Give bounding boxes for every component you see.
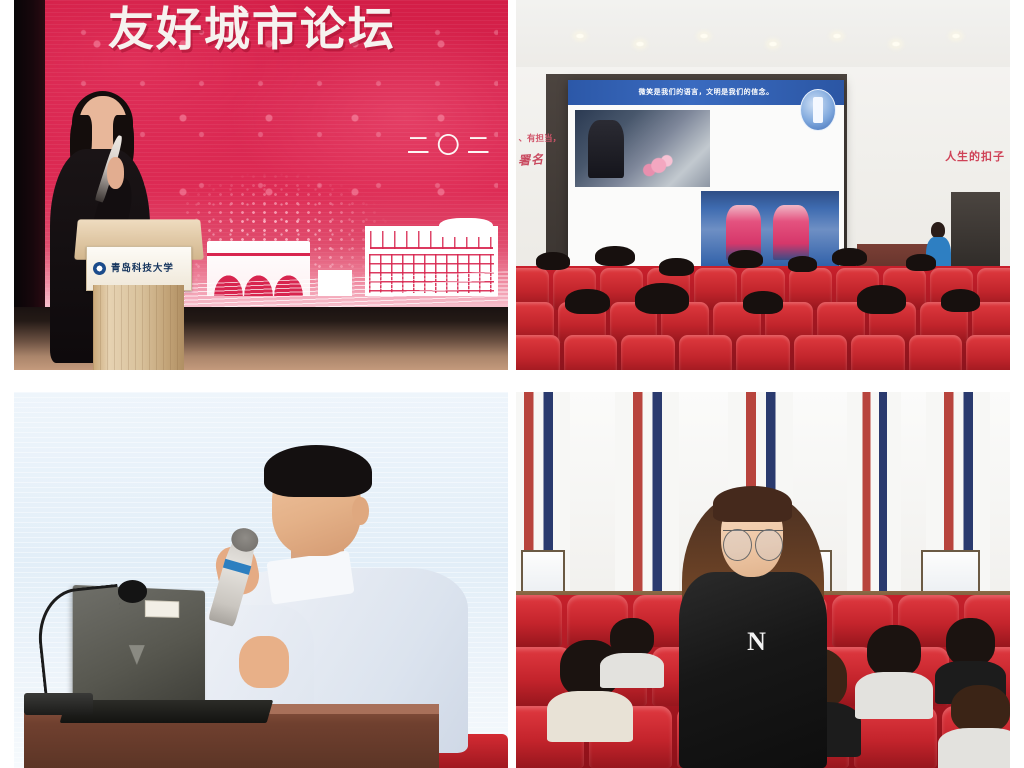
man-hair — [264, 445, 372, 497]
lectern-university-name: 青岛科技大学 — [111, 264, 174, 274]
lectern: 青岛科技大学 — [76, 218, 202, 370]
photo-bottom-right: N — [516, 392, 1010, 768]
forum-headline: 友好城市论坛 — [108, 0, 396, 59]
audience-head — [536, 252, 571, 270]
audience-head — [832, 248, 867, 267]
student-head — [946, 618, 995, 666]
seat-row — [516, 335, 1010, 370]
audience-head — [857, 285, 906, 314]
gooseneck-mic-base — [24, 693, 93, 716]
student-body — [547, 691, 632, 742]
wall-text-left: 、有担当， 署名 — [518, 133, 602, 167]
stage-left-dark-edge — [14, 0, 45, 307]
photo-top-left: 友好城市论坛 二〇二 青岛科技大学 — [14, 0, 508, 370]
wall-column — [570, 392, 614, 625]
hoodie-graphic-letter: N — [747, 627, 768, 657]
ceiling-light-icon — [635, 41, 645, 47]
seated-student — [951, 685, 1010, 768]
projector-screen: 微笑是我们的语言，文明是我们的信念。 — [568, 80, 845, 272]
student-hoodie — [679, 572, 827, 768]
audience-head — [659, 258, 694, 276]
wall-text-left-line: 、有担当， — [518, 134, 561, 144]
ceiling-light-icon — [891, 41, 901, 47]
wall-text-right: 人生的扣子 — [945, 148, 1005, 164]
student-body — [600, 653, 664, 688]
ceiling-light-icon — [768, 41, 778, 47]
seated-student — [610, 618, 654, 686]
photo-top-right: 微笑是我们的语言，文明是我们的信念。 、有担当， 署名 人生的扣子 — [516, 0, 1010, 370]
slide-photo-hostesses — [701, 191, 839, 268]
hall-doorway — [951, 192, 1000, 273]
seated-staff — [867, 625, 921, 715]
man-open-hand — [239, 636, 289, 688]
student-head — [951, 685, 1010, 733]
gooseneck-microphone-icon — [33, 583, 128, 696]
window-curtain — [615, 392, 684, 595]
audience-head — [565, 289, 609, 314]
university-crest-icon — [93, 262, 106, 275]
audience-head — [788, 256, 818, 272]
slide-header-text: 微笑是我们的语言，文明是我们的信念。 — [639, 87, 774, 97]
student-fringe — [713, 486, 792, 521]
wall-column — [990, 392, 1010, 625]
staff-head — [867, 625, 921, 677]
audience-head — [635, 283, 689, 314]
audience-head — [595, 246, 635, 267]
audience-head — [906, 254, 936, 271]
forum-year-text: 二〇二 — [407, 126, 506, 160]
gooseneck-mic-capsule — [118, 580, 148, 603]
window-curtain — [847, 392, 906, 595]
standing-student: N — [679, 475, 827, 768]
wall-text-signature: 署名 — [518, 146, 603, 170]
laptop-sticker — [145, 600, 180, 617]
audience-seating — [516, 266, 1010, 370]
audience-head — [941, 289, 981, 312]
audience-head — [728, 250, 763, 269]
staff-body — [855, 672, 933, 719]
laptop-logo-icon — [129, 645, 145, 665]
volunteer-badge-icon — [800, 89, 836, 131]
eyeglasses-icon — [723, 530, 782, 548]
presenter-head — [931, 222, 945, 238]
photo-collage: 友好城市论坛 二〇二 青岛科技大学 — [0, 0, 1024, 768]
student-head — [610, 618, 654, 657]
tower-graphic — [439, 218, 493, 237]
man-ear — [352, 497, 369, 525]
student-body — [938, 728, 1010, 768]
lectern-body — [93, 285, 184, 370]
photo-bottom-left — [14, 392, 508, 768]
audience-head — [743, 291, 783, 314]
speaker-hand — [107, 157, 124, 189]
